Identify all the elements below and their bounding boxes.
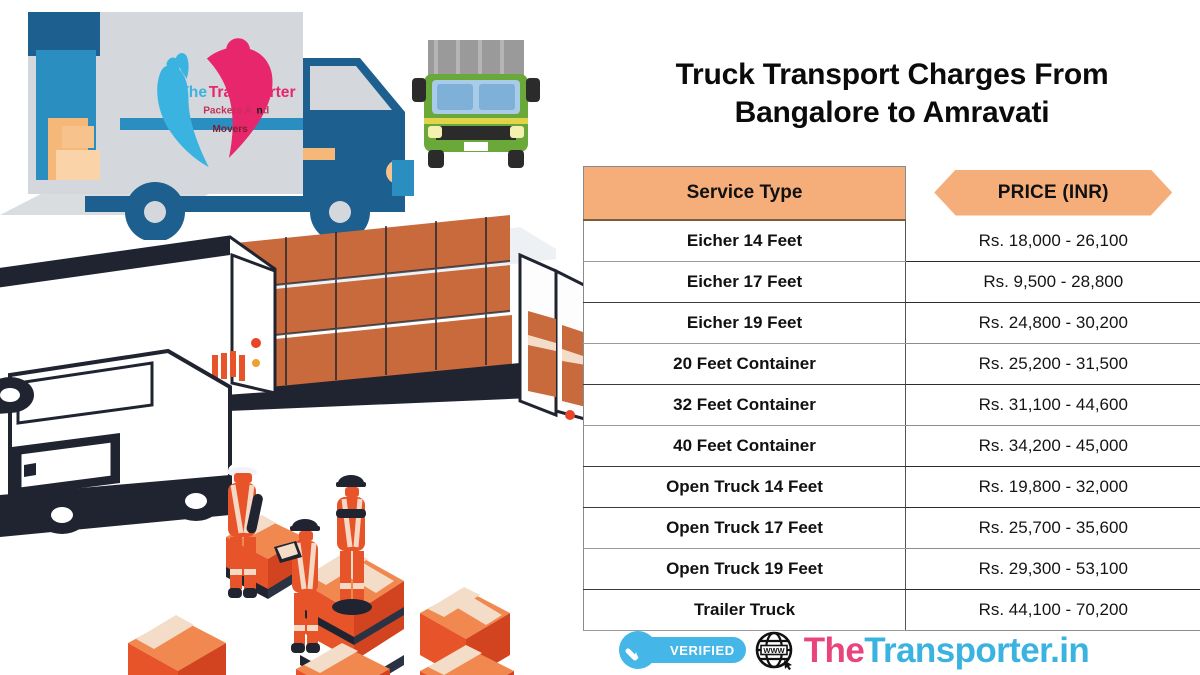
- charges-table-container: Service Type PRICE (INR) Eicher 14 Feet …: [583, 166, 1200, 624]
- truck-illustration-top: The Transporter Packers A n d Movers: [0, 0, 580, 240]
- price-cell: Rs. 31,100 - 44,600: [906, 385, 1200, 426]
- table-row: 32 Feet Container Rs. 31,100 - 44,600: [584, 385, 1200, 426]
- service-cell: Open Truck 19 Feet: [584, 549, 906, 590]
- svg-text:Movers: Movers: [212, 124, 248, 135]
- svg-text:Transporter: Transporter: [209, 84, 296, 101]
- table-row: Eicher 14 Feet Rs. 18,000 - 26,100: [584, 220, 1200, 262]
- table-row: 20 Feet Container Rs. 25,200 - 31,500: [584, 344, 1200, 385]
- column-header-price: PRICE (INR): [906, 167, 1200, 221]
- price-cell: Rs. 29,300 - 53,100: [906, 549, 1200, 590]
- service-cell: 32 Feet Container: [584, 385, 906, 426]
- table-body: Eicher 14 Feet Rs. 18,000 - 26,100 Eiche…: [584, 220, 1200, 631]
- brand-the: The: [804, 631, 864, 670]
- logistics-illustration-bottom: [0, 215, 600, 675]
- table-row: Eicher 19 Feet Rs. 24,800 - 30,200: [584, 303, 1200, 344]
- brand-footer: VERIFIED WWW TheTransporter.in: [618, 627, 1089, 673]
- price-cell: Rs. 25,200 - 31,500: [906, 344, 1200, 385]
- table-row: Open Truck 19 Feet Rs. 29,300 - 53,100: [584, 549, 1200, 590]
- svg-text:d: d: [263, 106, 269, 117]
- charges-table: Service Type PRICE (INR) Eicher 14 Feet …: [583, 166, 1200, 631]
- svg-text:Packers A: Packers A: [203, 106, 252, 117]
- brand-transporter-in: Transporter.in: [864, 631, 1089, 670]
- table-row: Open Truck 14 Feet Rs. 19,800 - 32,000: [584, 467, 1200, 508]
- price-cell: Rs. 9,500 - 28,800: [906, 262, 1200, 303]
- table-header-row: Service Type PRICE (INR): [584, 167, 1200, 221]
- service-cell: Eicher 19 Feet: [584, 303, 906, 344]
- service-cell: Trailer Truck: [584, 590, 906, 631]
- verified-badge: VERIFIED: [618, 630, 746, 670]
- service-cell: 40 Feet Container: [584, 426, 906, 467]
- price-cell: Rs. 44,100 - 70,200: [906, 590, 1200, 631]
- page-title: Truck Transport Charges From Bangalore t…: [588, 56, 1196, 133]
- service-cell: Open Truck 14 Feet: [584, 467, 906, 508]
- service-cell: Eicher 17 Feet: [584, 262, 906, 303]
- table-row: 40 Feet Container Rs. 34,200 - 45,000: [584, 426, 1200, 467]
- price-cell: Rs. 19,800 - 32,000: [906, 467, 1200, 508]
- price-cell: Rs. 24,800 - 30,200: [906, 303, 1200, 344]
- price-cell: Rs. 25,700 - 35,600: [906, 508, 1200, 549]
- infographic-canvas: The Transporter Packers A n d Movers: [0, 0, 1200, 675]
- svg-text:n: n: [257, 106, 263, 117]
- service-cell: Eicher 14 Feet: [584, 220, 906, 262]
- title-line-1: Truck Transport Charges From: [676, 58, 1109, 91]
- verified-pill: VERIFIED: [636, 637, 746, 663]
- title-line-2: Bangalore to Amravati: [735, 96, 1050, 129]
- table-row: Trailer Truck Rs. 44,100 - 70,200: [584, 590, 1200, 631]
- svg-text:The: The: [179, 84, 207, 101]
- price-header-hexagon: PRICE (INR): [906, 167, 1200, 219]
- column-header-service-type: Service Type: [584, 167, 906, 221]
- price-cell: Rs. 34,200 - 45,000: [906, 426, 1200, 467]
- brand-wordmark: TheTransporter.in: [804, 633, 1089, 668]
- price-header-label: PRICE (INR): [998, 182, 1109, 204]
- service-cell: Open Truck 17 Feet: [584, 508, 906, 549]
- www-globe-icon: WWW: [755, 630, 795, 670]
- hexagon-shape: PRICE (INR): [934, 170, 1172, 216]
- verified-label: VERIFIED: [670, 643, 735, 658]
- service-cell: 20 Feet Container: [584, 344, 906, 385]
- price-cell: Rs. 18,000 - 26,100: [906, 220, 1200, 262]
- table-row: Open Truck 17 Feet Rs. 25,700 - 35,600: [584, 508, 1200, 549]
- globe-www-text: WWW: [763, 646, 785, 655]
- table-row: Eicher 17 Feet Rs. 9,500 - 28,800: [584, 262, 1200, 303]
